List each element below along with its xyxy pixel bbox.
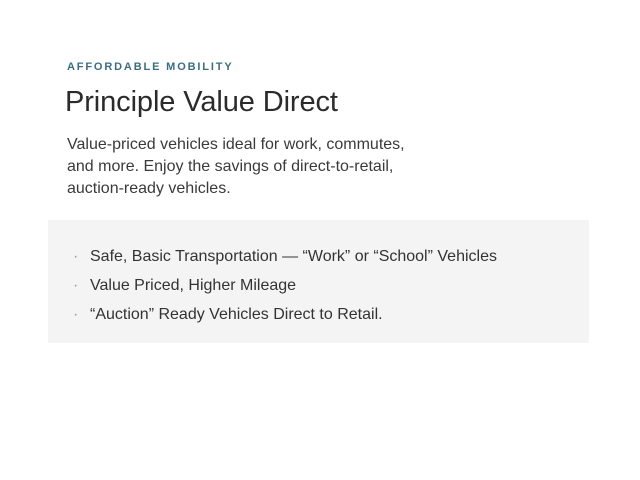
list-item-label: Safe, Basic Transportation — “Work” or “…: [90, 248, 497, 265]
list-item: · Value Priced, Higher Mileage: [73, 271, 497, 300]
intro-line: and more. Enjoy the savings of direct-to…: [67, 156, 507, 178]
list-item: · “Auction” Ready Vehicles Direct to Ret…: [73, 300, 497, 329]
page-title: Principle Value Direct: [65, 84, 338, 120]
bullet-dot-icon: ·: [73, 242, 78, 271]
slide-canvas: AFFORDABLE MOBILITY Principle Value Dire…: [0, 0, 640, 480]
bullet-dot-icon: ·: [73, 300, 78, 329]
bullet-dot-icon: ·: [73, 271, 78, 300]
feature-bullet-list: · Safe, Basic Transportation — “Work” or…: [73, 242, 497, 329]
intro-line: auction-ready vehicles.: [67, 178, 507, 200]
eyebrow-label: AFFORDABLE MOBILITY: [67, 59, 234, 75]
intro-paragraph: Value-priced vehicles ideal for work, co…: [67, 134, 507, 200]
list-item-label: “Auction” Ready Vehicles Direct to Retai…: [90, 306, 383, 323]
list-item: · Safe, Basic Transportation — “Work” or…: [73, 242, 497, 271]
list-item-label: Value Priced, Higher Mileage: [90, 277, 296, 294]
intro-line: Value-priced vehicles ideal for work, co…: [67, 134, 507, 156]
highlights-panel: · Safe, Basic Transportation — “Work” or…: [48, 220, 589, 343]
